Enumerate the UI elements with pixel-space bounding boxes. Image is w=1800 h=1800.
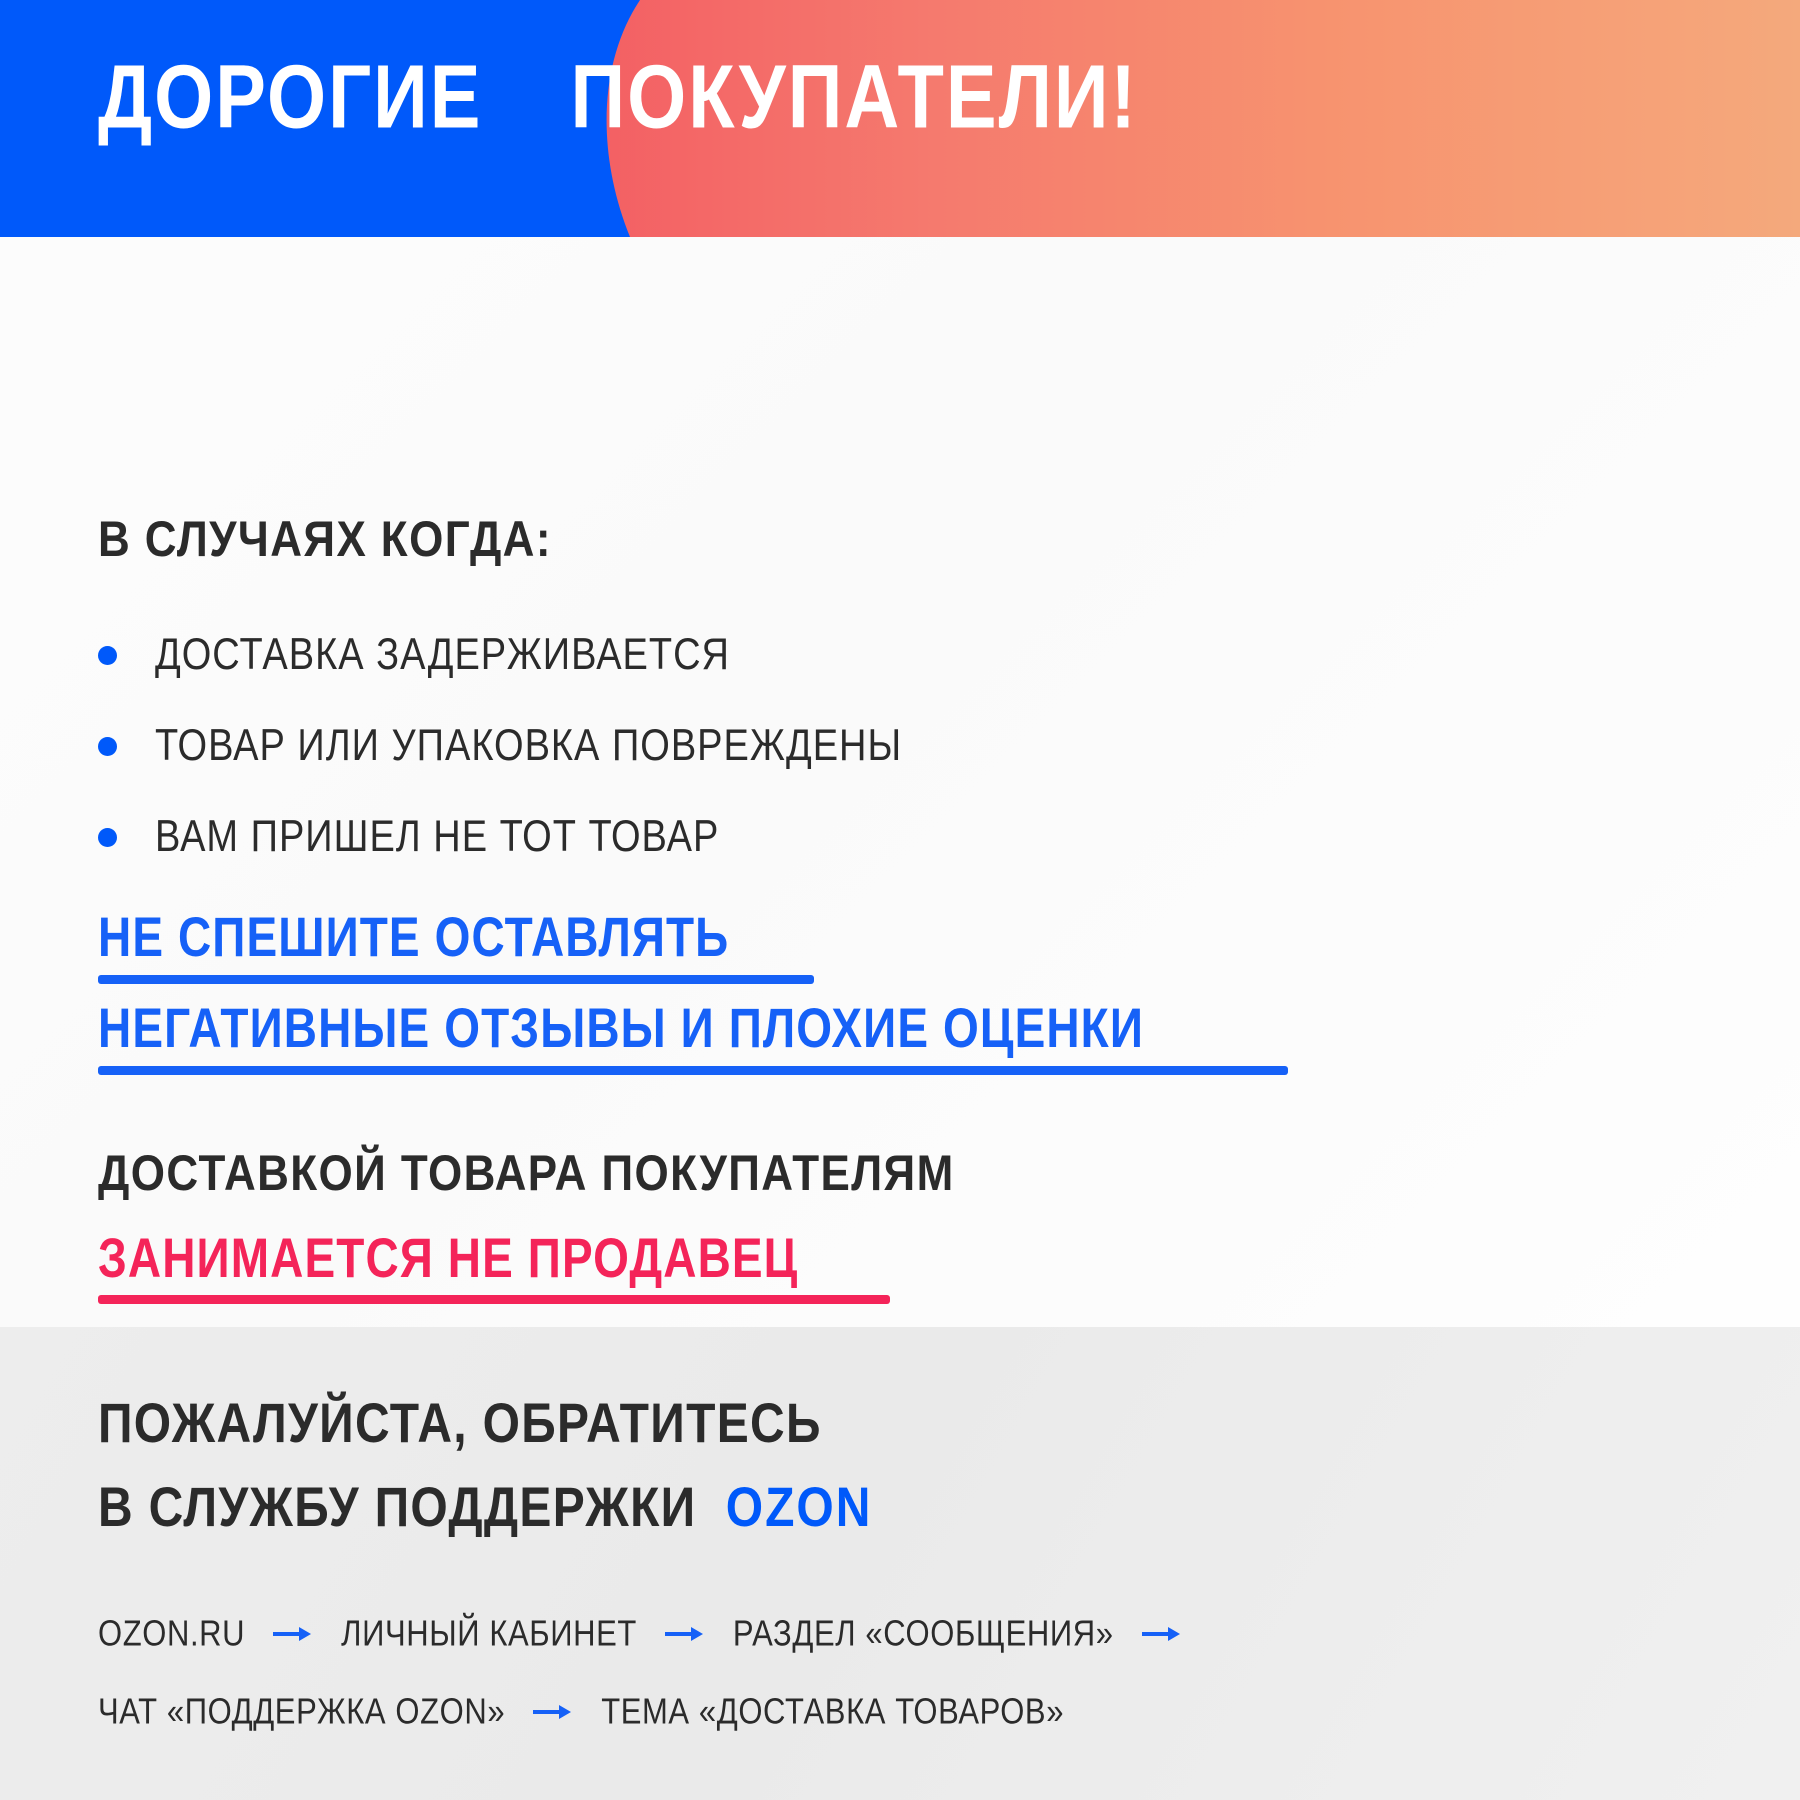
- support-heading-line-2: В СЛУЖБУ ПОДДЕРЖКИ OZON: [98, 1481, 872, 1537]
- arrow-right-icon: [271, 1624, 315, 1644]
- underline-rule: [98, 975, 814, 984]
- arrow-right-icon: [531, 1702, 575, 1722]
- arrow-right-icon: [1140, 1624, 1184, 1644]
- list-item: ДОСТАВКА ЗАДЕРЖИВАЕТСЯ: [98, 619, 1498, 691]
- emphasis-blue-line-1: НЕ СПЕШИТЕ ОСТАВЛЯТЬ: [98, 909, 814, 984]
- breadcrumb-row-2: ЧАТ «ПОДДЕРЖКА OZON» ТЕМА «ДОСТАВКА ТОВА…: [98, 1694, 1064, 1730]
- bullet-dot-icon: [98, 646, 117, 665]
- underline-rule: [98, 1295, 890, 1304]
- list-item-label: ДОСТАВКА ЗАДЕРЖИВАЕТСЯ: [155, 633, 730, 678]
- list-item: ВАМ ПРИШЕЛ НЕ ТОТ ТОВАР: [98, 801, 1498, 873]
- arrow-right-icon: [663, 1624, 707, 1644]
- underline-rule: [98, 1066, 1288, 1075]
- support-heading-line-1: ПОЖАЛУЙСТА, ОБРАТИТЕСЬ: [98, 1397, 822, 1453]
- delivery-heading: ДОСТАВКОЙ ТОВАРА ПОКУПАТЕЛЯМ: [98, 1149, 955, 1199]
- header-title-word-2: ПОКУПАТЕЛИ!: [570, 53, 1137, 143]
- bullet-dot-icon: [98, 737, 117, 756]
- emphasis-blue-line-2: НЕГАТИВНЫЕ ОТЗЫВЫ И ПЛОХИЕ ОЦЕНКИ: [98, 1000, 1288, 1075]
- breadcrumb-step[interactable]: РАЗДЕЛ «СООБЩЕНИЯ»: [733, 1613, 1114, 1655]
- header-title-word-1: ДОРОГИЕ: [98, 53, 482, 143]
- breadcrumb-step[interactable]: ТЕМА «ДОСТАВКА ТОВАРОВ»: [601, 1691, 1064, 1733]
- cases-bullet-list: ДОСТАВКА ЗАДЕРЖИВАЕТСЯ ТОВАР ИЛИ УПАКОВК…: [98, 619, 1498, 892]
- list-item-label: ТОВАР ИЛИ УПАКОВКА ПОВРЕЖДЕНЫ: [155, 724, 902, 769]
- breadcrumb-step[interactable]: ЧАТ «ПОДДЕРЖКА OZON»: [98, 1691, 505, 1733]
- list-item: ТОВАР ИЛИ УПАКОВКА ПОВРЕЖДЕНЫ: [98, 710, 1498, 782]
- emphasis-red-line: ЗАНИМАЕТСЯ НЕ ПРОДАВЕЦ: [98, 1230, 890, 1304]
- cases-heading: В СЛУЧАЯХ КОГДА:: [98, 515, 552, 565]
- header-title: ДОРОГИЕ ПОКУПАТЕЛИ!: [98, 53, 1138, 129]
- support-heading-line-2-prefix: В СЛУЖБУ ПОДДЕРЖКИ: [98, 1478, 696, 1539]
- emphasis-blue-text-2: НЕГАТИВНЫЕ ОТЗЫВЫ И ПЛОХИЕ ОЦЕНКИ: [98, 1000, 1144, 1055]
- poster-header: ДОРОГИЕ ПОКУПАТЕЛИ!: [0, 0, 1800, 237]
- bullet-dot-icon: [98, 828, 117, 847]
- breadcrumb-row-1: OZON.RU ЛИЧНЫЙ КАБИНЕТ РАЗДЕЛ «СООБЩЕНИЯ…: [98, 1616, 1210, 1652]
- support-footer-panel: ПОЖАЛУЙСТА, ОБРАТИТЕСЬ В СЛУЖБУ ПОДДЕРЖК…: [0, 1327, 1800, 1800]
- ozon-brand-logo: OZON: [726, 1478, 873, 1539]
- breadcrumb-step[interactable]: OZON.RU: [98, 1613, 245, 1655]
- breadcrumb-step[interactable]: ЛИЧНЫЙ КАБИНЕТ: [341, 1613, 637, 1655]
- list-item-label: ВАМ ПРИШЕЛ НЕ ТОТ ТОВАР: [155, 815, 719, 860]
- emphasis-blue-text-1: НЕ СПЕШИТЕ ОСТАВЛЯТЬ: [98, 909, 729, 964]
- emphasis-red-text: ЗАНИМАЕТСЯ НЕ ПРОДАВЕЦ: [98, 1230, 798, 1285]
- promo-poster: ДОРОГИЕ ПОКУПАТЕЛИ! В СЛУЧАЯХ КОГДА: ДОС…: [0, 0, 1800, 1800]
